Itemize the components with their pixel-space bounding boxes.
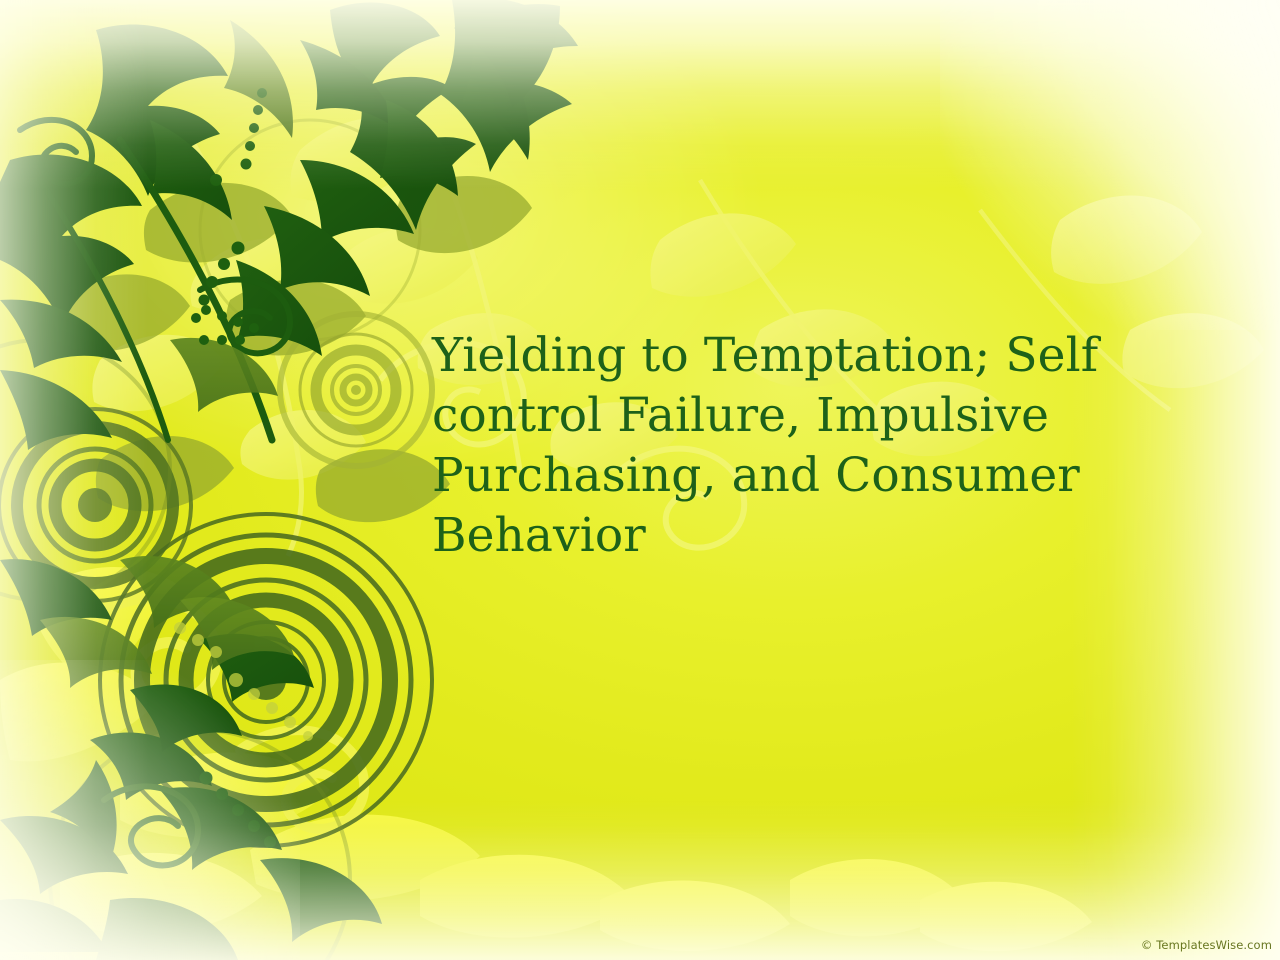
vignette-bottom-left-corner <box>0 660 300 960</box>
vignette-top-right-corner <box>940 0 1280 330</box>
templateswise-watermark: © TemplatesWise.com <box>1141 938 1272 952</box>
title-placeholder[interactable]: Yielding to Temptation; Self control Fai… <box>432 326 1144 566</box>
presentation-slide: Yielding to Temptation; Self control Fai… <box>0 0 1280 960</box>
page-title: Yielding to Temptation; Self control Fai… <box>432 326 1144 566</box>
